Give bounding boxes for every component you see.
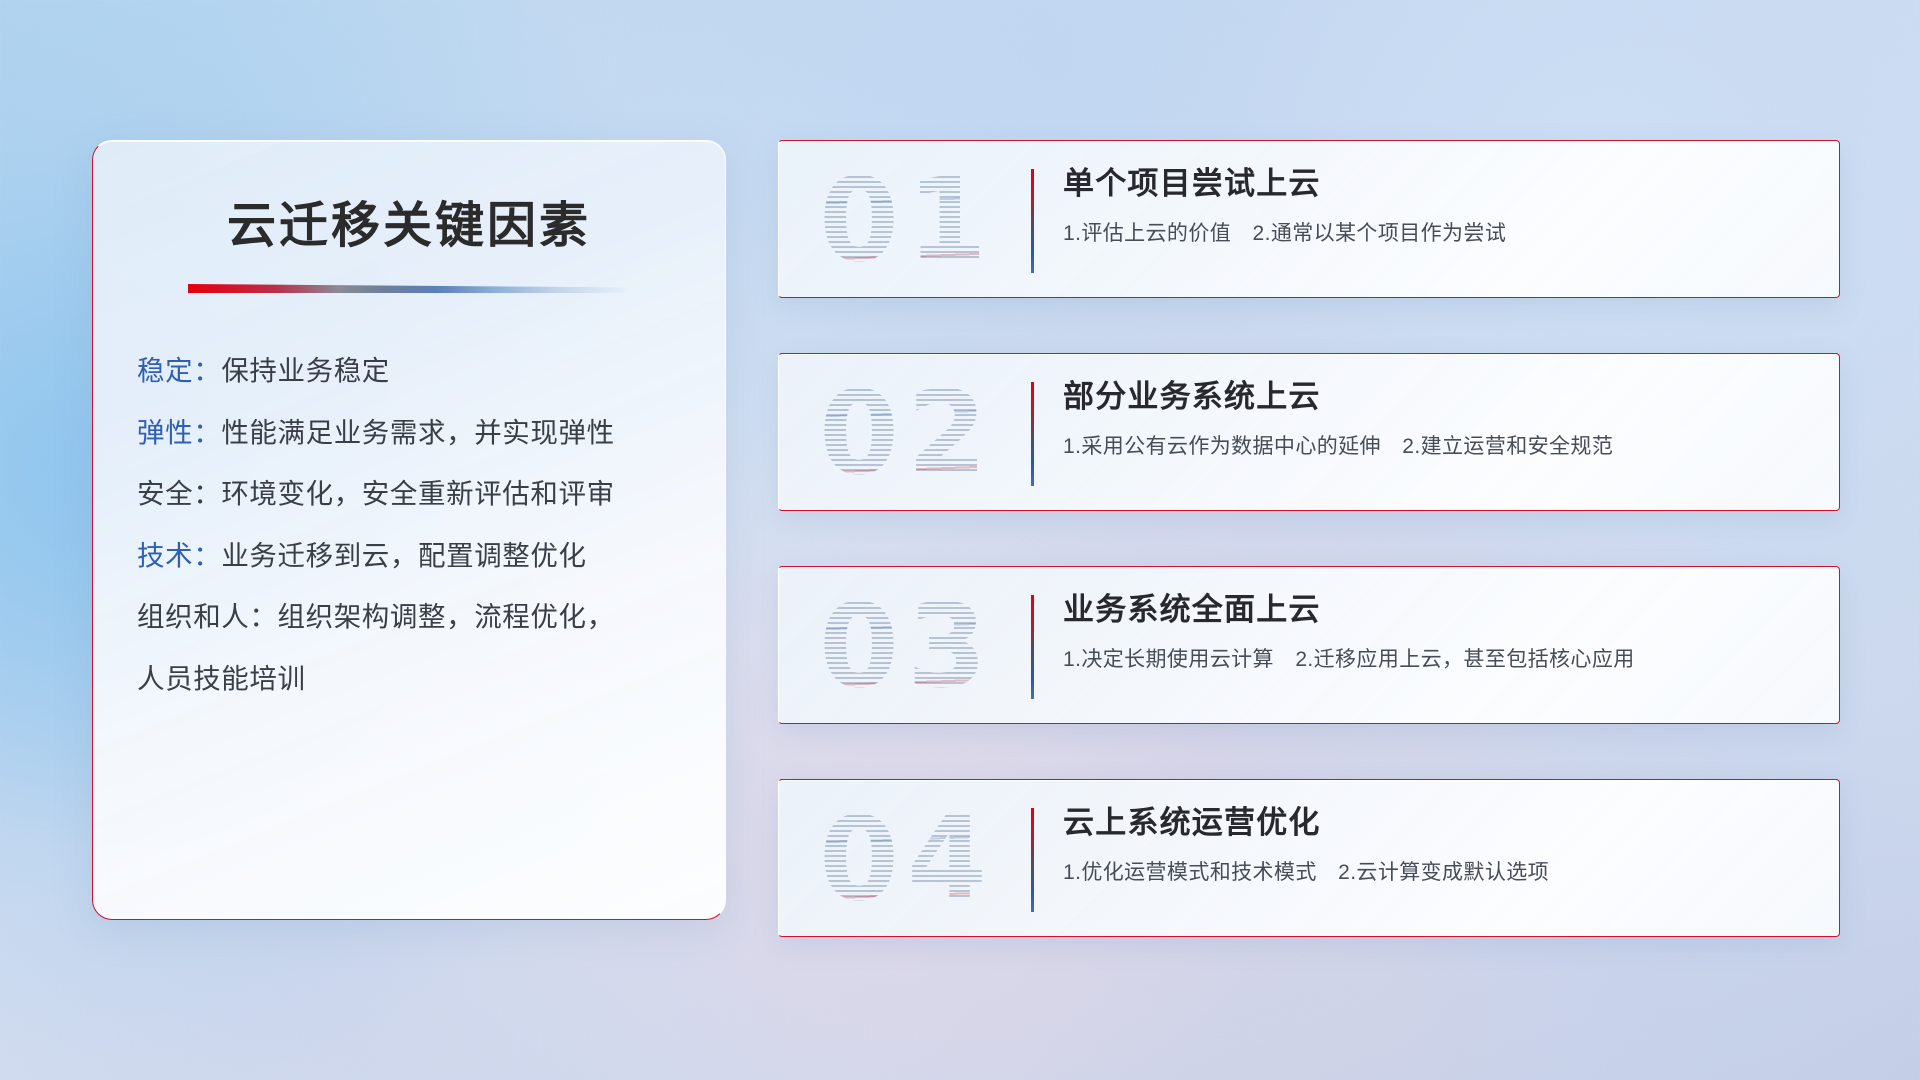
factor-item: 组织和人：组织架构调整，流程优化， <box>137 603 697 631</box>
factor-text: 人员技能培训 <box>137 663 306 694</box>
stage-text-block: 云上系统运营优化 1.优化运营模式和技术模式 2.云计算变成默认选项 <box>1063 804 1817 886</box>
stage-divider-line <box>1031 808 1034 912</box>
stage-number-tint: 04 <box>803 790 1011 930</box>
stage-divider-line <box>1031 595 1034 699</box>
panel-title: 云迁移关键因素 <box>93 186 725 257</box>
stage-text-block: 部分业务系统上云 1.采用公有云作为数据中心的延伸 2.建立运营和安全规范 <box>1063 378 1817 460</box>
stage-title: 云上系统运营优化 <box>1063 804 1817 843</box>
factor-label: 安全： <box>137 478 221 509</box>
factor-text: 环境变化，安全重新评估和评审 <box>221 478 614 509</box>
factor-text: 性能满足业务需求，并实现弹性 <box>221 417 614 448</box>
factor-label: 组织和人： <box>137 601 278 632</box>
factor-item: 弹性：性能满足业务需求，并实现弹性 <box>137 419 697 447</box>
factor-item: 稳定：保持业务稳定 <box>137 357 697 385</box>
factor-text: 保持业务稳定 <box>221 355 390 386</box>
factor-item-continuation: 人员技能培训 <box>137 665 697 693</box>
stage-subtitle: 1.采用公有云作为数据中心的延伸 2.建立运营和安全规范 <box>1063 433 1817 460</box>
factor-text: 组织架构调整，流程优化， <box>278 601 615 632</box>
stage-card-03[interactable]: 03 03 业务系统全面上云 1.决定长期使用云计算 2.迁移应用上云，甚至包括… <box>778 566 1840 724</box>
stage-card-02[interactable]: 02 02 部分业务系统上云 1.采用公有云作为数据中心的延伸 2.建立运营和安… <box>778 353 1840 511</box>
stage-title: 部分业务系统上云 <box>1063 378 1817 417</box>
factor-label: 技术： <box>137 540 221 571</box>
title-underline-gradient <box>188 284 630 293</box>
stage-number-tint: 01 <box>803 151 1011 291</box>
key-factors-panel: 云迁移关键因素 稳定：保持业务稳定 弹性：性能满足业务需求，并实现弹性 安全：环… <box>92 140 726 920</box>
factor-text: 业务迁移到云，配置调整优化 <box>221 540 586 571</box>
factor-item: 技术：业务迁移到云，配置调整优化 <box>137 542 697 570</box>
factor-label: 稳定： <box>137 355 221 386</box>
stage-card-01[interactable]: 01 01 单个项目尝试上云 1.评估上云的价值 2.通常以某个项目作为尝试 <box>778 140 1840 298</box>
stage-subtitle: 1.评估上云的价值 2.通常以某个项目作为尝试 <box>1063 220 1817 247</box>
stage-subtitle: 1.优化运营模式和技术模式 2.云计算变成默认选项 <box>1063 859 1817 886</box>
title-underline <box>188 284 630 293</box>
stage-divider-line <box>1031 169 1034 273</box>
stage-divider-line <box>1031 382 1034 486</box>
stage-title: 业务系统全面上云 <box>1063 591 1817 630</box>
stage-number-tint: 03 <box>803 577 1011 717</box>
stage-card-04[interactable]: 04 04 云上系统运营优化 1.优化运营模式和技术模式 2.云计算变成默认选项 <box>778 779 1840 937</box>
stage-text-block: 业务系统全面上云 1.决定长期使用云计算 2.迁移应用上云，甚至包括核心应用 <box>1063 591 1817 673</box>
stage-card-list: 01 01 单个项目尝试上云 1.评估上云的价值 2.通常以某个项目作为尝试 0… <box>778 140 1840 937</box>
stage-text-block: 单个项目尝试上云 1.评估上云的价值 2.通常以某个项目作为尝试 <box>1063 165 1817 247</box>
stage-subtitle: 1.决定长期使用云计算 2.迁移应用上云，甚至包括核心应用 <box>1063 646 1817 673</box>
stage-title: 单个项目尝试上云 <box>1063 165 1817 204</box>
factor-list: 稳定：保持业务稳定 弹性：性能满足业务需求，并实现弹性 安全：环境变化，安全重新… <box>137 357 697 692</box>
factor-label: 弹性： <box>137 417 221 448</box>
factor-item: 安全：环境变化，安全重新评估和评审 <box>137 480 697 508</box>
stage-number-tint: 02 <box>803 364 1011 504</box>
